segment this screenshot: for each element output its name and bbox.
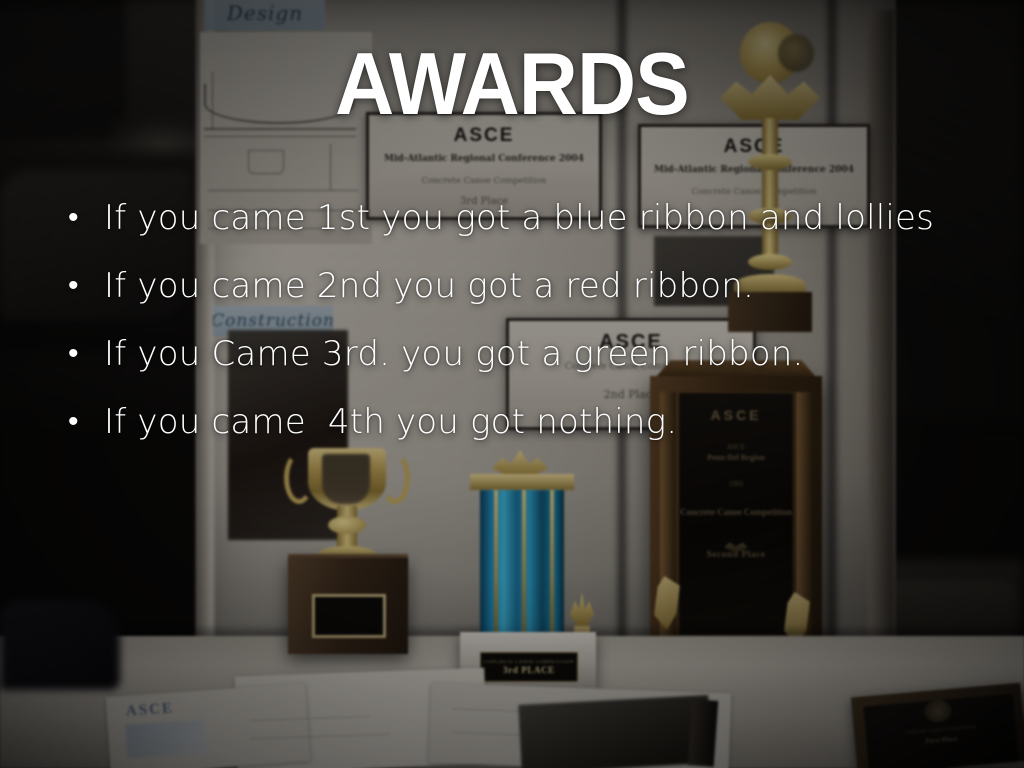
slide-title: AWARDS	[36, 40, 988, 128]
bullet-marker-icon: •	[58, 400, 104, 444]
bullet-marker-icon: •	[58, 196, 104, 240]
bullet-item-1: • If you came 1st you got a blue ribbon …	[58, 196, 1018, 240]
slide-content: AWARDS • If you came 1st you got a blue …	[0, 0, 1024, 768]
bullet-item-4: • If you came 4th you got nothing.	[58, 400, 1018, 444]
bullet-text-4: If you came 4th you got nothing.	[104, 400, 1018, 444]
bullet-text-1: If you came 1st you got a blue ribbon an…	[104, 196, 1018, 240]
presentation-slide: Design Construction ASCE Mid-Atlantic Re…	[0, 0, 1024, 768]
bullet-text-2: If you came 2nd you got a red ribbon.	[104, 264, 1018, 308]
bullet-item-3: • If you Came 3rd. you got a green ribbo…	[58, 332, 1018, 376]
bullet-text-3: If you Came 3rd. you got a green ribbon.	[104, 332, 1018, 376]
bullet-marker-icon: •	[58, 264, 104, 308]
bullet-item-2: • If you came 2nd you got a red ribbon.	[58, 264, 1018, 308]
bullet-list: • If you came 1st you got a blue ribbon …	[58, 196, 1018, 468]
bullet-marker-icon: •	[58, 332, 104, 376]
